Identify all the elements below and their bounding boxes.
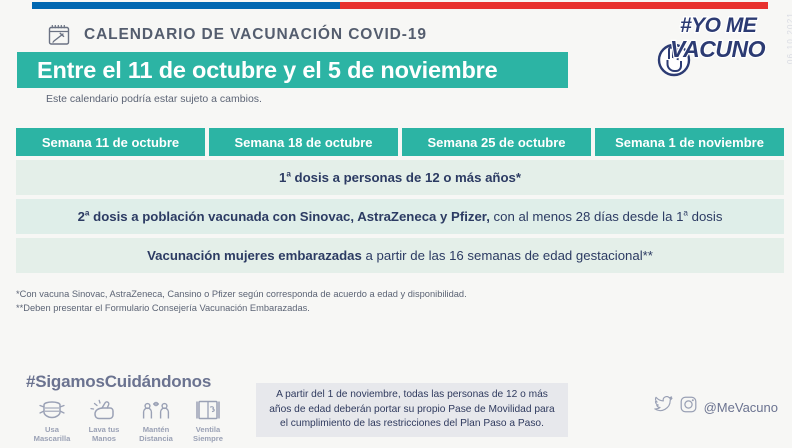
- row-3-rest: a partir de las 16 semanas de edad gesta…: [362, 248, 653, 263]
- logo-line-2: VACUNO: [670, 36, 765, 63]
- right-edge-strip: [792, 0, 800, 448]
- date-range-text: Entre el 11 de octubre y el 5 de noviemb…: [37, 57, 497, 84]
- care-label-wash-hands: Lava tusManos: [78, 425, 130, 444]
- table-row: 2a dosis a población vacunada con Sinova…: [16, 199, 784, 234]
- ventilate-icon: [182, 394, 234, 422]
- care-label-ventilate: VentilaSiempre: [182, 425, 234, 444]
- footnotes: *Con vacuna Sinovac, AstraZeneca, Cansin…: [16, 287, 716, 316]
- face-mask-icon: [26, 394, 78, 422]
- care-label-distance: ManténDistancia: [130, 425, 182, 444]
- table-row: Vacunación mujeres embarazadas a partir …: [16, 238, 784, 273]
- date-range-banner: Entre el 11 de octubre y el 5 de noviemb…: [17, 52, 568, 88]
- footnote-1: *Con vacuna Sinovac, AstraZeneca, Cansin…: [16, 287, 716, 301]
- row-2-bold: 2a dosis a población vacunada con Sinova…: [78, 209, 490, 224]
- footnote-2: **Deben presentar el Formulario Consejer…: [16, 301, 716, 315]
- care-item-ventilate: VentilaSiempre: [182, 394, 234, 444]
- care-measures: UsaMascarilla Lava tusManos: [26, 394, 236, 444]
- flag-blue-segment: [32, 2, 340, 9]
- social-handles[interactable]: @MeVacuno: [654, 396, 778, 418]
- subject-to-change-note: Este calendario podría estar sujeto a ca…: [46, 93, 262, 105]
- schedule-rows: 1a dosis a personas de 12 o más años* 2a…: [16, 160, 784, 277]
- care-item-wash-hands: Lava tusManos: [78, 394, 130, 444]
- row-3-bold: Vacunación mujeres embarazadas: [147, 248, 362, 263]
- mobility-pass-notice-text: A partir del 1 de noviembre, todas las p…: [266, 388, 558, 432]
- poster-root: CALENDARIO DE VACUNACIÓN COVID-19 06.10.…: [0, 0, 800, 448]
- care-item-distance: ManténDistancia: [130, 394, 182, 444]
- table-row: 1a dosis a personas de 12 o más años*: [16, 160, 784, 195]
- row-2-rest: con al menos 28 días desde la 1a dosis: [490, 209, 723, 224]
- page-title: CALENDARIO DE VACUNACIÓN COVID-19: [84, 26, 427, 44]
- yo-me-vacuno-logo: #YO ME VACUNO: [654, 14, 782, 76]
- distance-icon: [130, 394, 182, 422]
- calendar-syringe-icon: [46, 22, 72, 48]
- wash-hands-icon: [78, 394, 130, 422]
- care-label-mask: UsaMascarilla: [26, 425, 78, 444]
- row-1-bold: 1a dosis a personas de 12 o más años*: [279, 170, 521, 185]
- week-header-4: Semana 1 de noviembre: [595, 128, 784, 156]
- care-item-mask: UsaMascarilla: [26, 394, 78, 444]
- twitter-icon[interactable]: [654, 396, 673, 418]
- mobility-pass-notice: A partir del 1 de noviembre, todas las p…: [256, 383, 568, 437]
- social-handle-text[interactable]: @MeVacuno: [704, 400, 778, 415]
- logo-line-1: #YO ME: [680, 14, 756, 38]
- chile-flag-bar: [32, 2, 768, 9]
- instagram-icon[interactable]: [680, 396, 697, 418]
- week-header-3: Semana 25 de octubre: [402, 128, 591, 156]
- week-header-1: Semana 11 de octubre: [16, 128, 205, 156]
- week-header-2: Semana 18 de octubre: [209, 128, 398, 156]
- sigamos-cuidandonos-hashtag: #SigamosCuidándonos: [26, 372, 211, 392]
- flag-red-segment: [340, 2, 768, 9]
- week-header-row: Semana 11 de octubre Semana 18 de octubr…: [16, 128, 784, 156]
